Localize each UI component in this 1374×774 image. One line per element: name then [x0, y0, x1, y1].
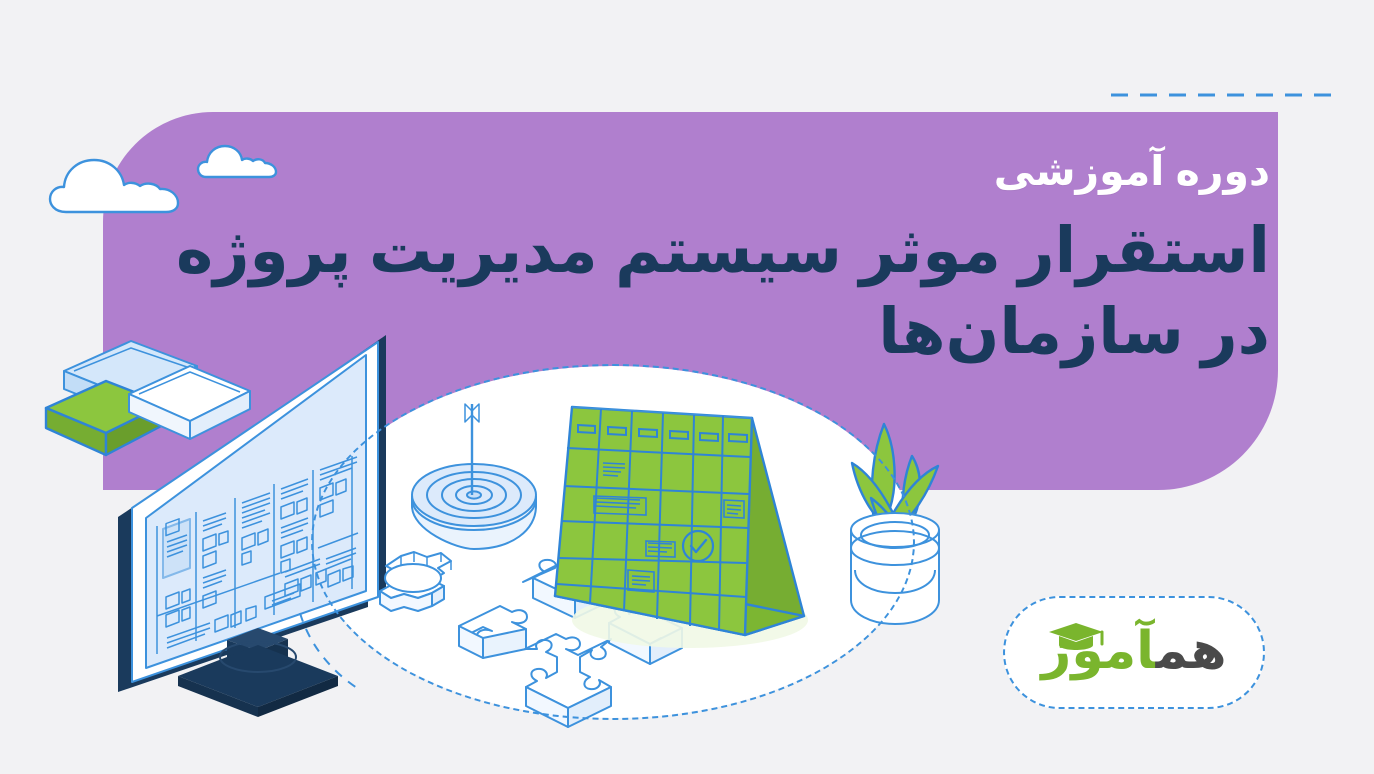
brand-logo-part-dark: هم	[1156, 622, 1227, 680]
graduation-cap-icon	[1045, 620, 1107, 655]
cloud-icon-large	[48, 154, 192, 216]
dashed-line-top	[1109, 84, 1334, 102]
banner-canvas: .ln{stroke:#3d92dd;stroke-width:2;fill:n…	[0, 0, 1374, 774]
brand-logo-badge[interactable]: همآموز	[1003, 596, 1265, 709]
dashed-line-mid-upper	[1069, 522, 1289, 540]
page-title-line-2: در سازمان‌ها	[210, 294, 1270, 371]
brand-logo-inner: همآموز	[1005, 598, 1263, 707]
eyebrow-label: دوره آموزشی	[210, 148, 1270, 195]
dashed-line-mid-lower	[1051, 539, 1186, 557]
headline-block: دوره آموزشی استقرار موثر سیستم مدیریت پر…	[210, 148, 1270, 371]
stage-dashed-outline	[311, 364, 915, 720]
page-title-line-1: استقرار موثر سیستم مدیریت پروژه	[210, 213, 1270, 290]
